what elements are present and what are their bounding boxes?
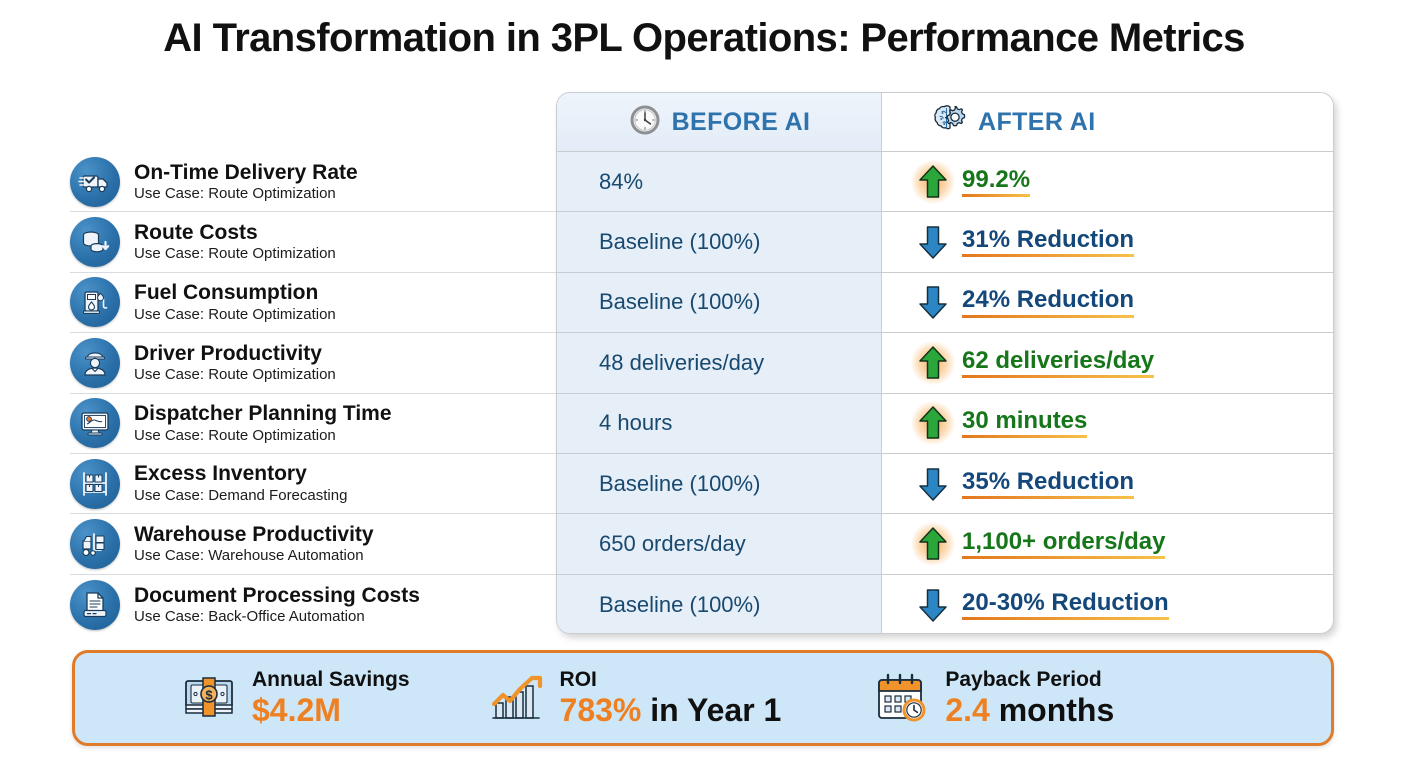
metric-row: Driver Productivity Use Case: Route Opti… <box>70 333 560 393</box>
summary-label: Annual Savings <box>252 669 410 692</box>
fuel-pump-icon <box>70 277 120 327</box>
before-value: Baseline (100%) <box>557 454 882 513</box>
delivery-truck-icon <box>70 157 120 207</box>
metric-use-case: Use Case: Demand Forecasting <box>134 488 347 505</box>
dispatch-monitor-icon <box>70 398 120 448</box>
metric-name: Driver Productivity <box>134 342 336 366</box>
money-stack-icon: $ <box>180 672 238 724</box>
arrow-up-icon <box>918 164 948 200</box>
after-value: 1,100+ orders/day <box>962 529 1165 559</box>
metric-use-case: Use Case: Route Optimization <box>134 186 358 203</box>
table-row: 84% 99.2% <box>557 152 1334 212</box>
arrow-up-icon <box>918 345 948 381</box>
svg-text:$: $ <box>205 688 213 703</box>
arrow-up-icon <box>918 526 948 562</box>
metric-row: On-Time Delivery Rate Use Case: Route Op… <box>70 152 560 212</box>
metric-label-list: On-Time Delivery Rate Use Case: Route Op… <box>70 152 560 635</box>
after-cell: 62 deliveries/day <box>882 333 1334 392</box>
metric-use-case: Use Case: Route Optimization <box>134 246 336 263</box>
table-body: 84% 99.2% Baseline (100%) 31% Reduction <box>557 152 1334 634</box>
metric-text: On-Time Delivery Rate Use Case: Route Op… <box>134 161 358 203</box>
metric-name: Dispatcher Planning Time <box>134 402 392 426</box>
after-cell: 30 minutes <box>882 394 1334 453</box>
metric-use-case: Use Case: Back-Office Automation <box>134 609 420 626</box>
before-value: 48 deliveries/day <box>557 333 882 392</box>
coins-down-icon <box>70 217 120 267</box>
metric-name: Route Costs <box>134 221 336 245</box>
summary-bar: $ Annual Savings $4.2M <box>72 650 1334 746</box>
metric-text: Excess Inventory Use Case: Demand Foreca… <box>134 462 347 504</box>
metric-use-case: Use Case: Route Optimization <box>134 367 336 384</box>
metric-name: Warehouse Productivity <box>134 523 374 547</box>
summary-label: ROI <box>560 669 782 692</box>
driver-icon <box>70 338 120 388</box>
metric-row: Excess Inventory Use Case: Demand Foreca… <box>70 454 560 514</box>
metric-use-case: Use Case: Warehouse Automation <box>134 548 374 565</box>
metric-row: Document Processing Costs Use Case: Back… <box>70 575 560 635</box>
after-cell: 1,100+ orders/day <box>882 514 1334 573</box>
metric-name: Fuel Consumption <box>134 281 336 305</box>
before-value: Baseline (100%) <box>557 575 882 634</box>
warehouse-rack-icon <box>70 459 120 509</box>
before-header-label: BEFORE AI <box>672 108 811 137</box>
table-header-row: BEFORE AI AFTER AI <box>557 93 1334 152</box>
arrow-down-icon <box>918 224 948 260</box>
after-value: 99.2% <box>962 167 1030 197</box>
metric-use-case: Use Case: Route Optimization <box>134 307 336 324</box>
after-value: 62 deliveries/day <box>962 348 1154 378</box>
before-column-header: BEFORE AI <box>557 93 882 151</box>
before-value: 650 orders/day <box>557 514 882 573</box>
summary-value: 2.4 months <box>945 693 1114 728</box>
arrow-down-icon <box>918 284 948 320</box>
document-printer-icon <box>70 580 120 630</box>
metric-name: Excess Inventory <box>134 462 347 486</box>
after-cell: 24% Reduction <box>882 273 1334 332</box>
summary-text: ROI 783% in Year 1 <box>560 669 782 727</box>
table-row: Baseline (100%) 20-30% Reduction <box>557 575 1334 634</box>
metric-name: Document Processing Costs <box>134 584 420 608</box>
table-row: Baseline (100%) 31% Reduction <box>557 212 1334 272</box>
after-value: 31% Reduction <box>962 227 1134 257</box>
after-value: 24% Reduction <box>962 287 1134 317</box>
metric-name: On-Time Delivery Rate <box>134 161 358 185</box>
metric-text: Warehouse Productivity Use Case: Warehou… <box>134 523 374 565</box>
table-row: 48 deliveries/day 62 deliveries/day <box>557 333 1334 393</box>
arrow-down-icon <box>918 587 948 623</box>
after-value: 35% Reduction <box>962 469 1134 499</box>
summary-value: $4.2M <box>252 693 410 728</box>
metric-text: Dispatcher Planning Time Use Case: Route… <box>134 402 392 444</box>
comparison-table: BEFORE AI AFTER AI <box>556 92 1334 634</box>
calendar-clock-icon <box>873 672 931 724</box>
summary-value: 783% in Year 1 <box>560 693 782 728</box>
after-value: 20-30% Reduction <box>962 590 1169 620</box>
summary-item-payback-period: Payback Period 2.4 months <box>873 669 1114 727</box>
before-value: Baseline (100%) <box>557 273 882 332</box>
after-header-label: AFTER AI <box>978 108 1096 137</box>
table-row: 4 hours 30 minutes <box>557 394 1334 454</box>
table-row: 650 orders/day 1,100+ orders/day <box>557 514 1334 574</box>
summary-item-annual-savings: $ Annual Savings $4.2M <box>180 669 410 727</box>
forklift-icon <box>70 519 120 569</box>
infographic-page: AI Transformation in 3PL Operations: Per… <box>0 0 1408 768</box>
before-value: 4 hours <box>557 394 882 453</box>
after-value: 30 minutes <box>962 408 1087 438</box>
summary-label: Payback Period <box>945 669 1114 692</box>
arrow-down-icon <box>918 466 948 502</box>
metric-row: Fuel Consumption Use Case: Route Optimiz… <box>70 273 560 333</box>
after-cell: 31% Reduction <box>882 212 1334 271</box>
metric-use-case: Use Case: Route Optimization <box>134 428 392 445</box>
summary-text: Payback Period 2.4 months <box>945 669 1114 727</box>
metric-row: Route Costs Use Case: Route Optimization <box>70 212 560 272</box>
arrow-up-icon <box>918 405 948 441</box>
after-cell: 99.2% <box>882 152 1334 211</box>
before-value: 84% <box>557 152 882 211</box>
after-cell: 20-30% Reduction <box>882 575 1334 634</box>
metric-text: Route Costs Use Case: Route Optimization <box>134 221 336 263</box>
metric-row: Dispatcher Planning Time Use Case: Route… <box>70 394 560 454</box>
metric-text: Document Processing Costs Use Case: Back… <box>134 584 420 626</box>
clock-icon <box>628 103 662 142</box>
summary-text: Annual Savings $4.2M <box>252 669 410 727</box>
page-title: AI Transformation in 3PL Operations: Per… <box>0 16 1408 61</box>
metric-row: Warehouse Productivity Use Case: Warehou… <box>70 514 560 574</box>
table-row: Baseline (100%) 35% Reduction <box>557 454 1334 514</box>
metric-text: Fuel Consumption Use Case: Route Optimiz… <box>134 281 336 323</box>
after-cell: 35% Reduction <box>882 454 1334 513</box>
before-value: Baseline (100%) <box>557 212 882 271</box>
metric-text: Driver Productivity Use Case: Route Opti… <box>134 342 336 384</box>
summary-item-roi: ROI 783% in Year 1 <box>488 669 782 727</box>
after-column-header: AFTER AI <box>882 93 1334 151</box>
brain-gear-icon <box>932 102 968 143</box>
growth-chart-icon <box>488 672 546 724</box>
table-row: Baseline (100%) 24% Reduction <box>557 273 1334 333</box>
